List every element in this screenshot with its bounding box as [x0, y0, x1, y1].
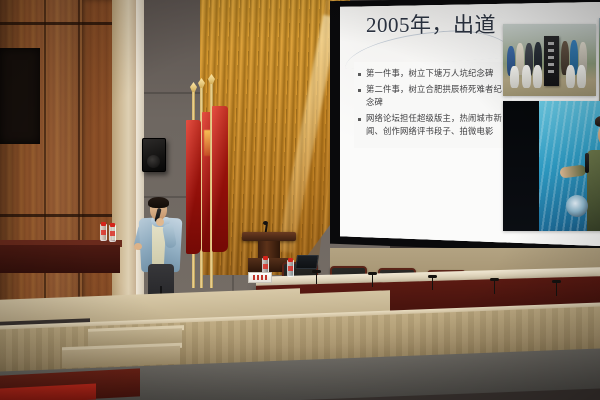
wood-seam: [0, 214, 116, 217]
lectern-top: [242, 232, 296, 241]
table-microphone: [316, 272, 317, 284]
projection-screen: 2005年，出道 第一件事，树立下塘万人坑纪念碑 第二件事，树立合肥拱辰桥死难者…: [340, 2, 600, 246]
table-microphone: [556, 282, 557, 296]
presentation-slide: 2005年，出道 第一件事，树立下塘万人坑纪念碑 第二件事，树立合肥拱辰桥死难者…: [340, 2, 600, 246]
laptop: [295, 255, 319, 269]
slide-photo-performer: [503, 101, 600, 231]
table-microphone-head: [312, 270, 321, 273]
slide-title: 2005年，出道: [366, 9, 496, 39]
side-table: [0, 245, 120, 273]
wood-seam: [0, 22, 116, 25]
dark-wall-inset: [0, 48, 40, 144]
stage-light-icon: [566, 195, 588, 217]
bullet-dot-icon: [358, 118, 361, 121]
list-item: 第二件事，树立合肥拱辰桥死难者纪念碑: [358, 83, 508, 109]
dark-edge: [503, 101, 539, 231]
table-microphone: [494, 280, 495, 294]
performer-fur-hat: [595, 115, 600, 127]
speaker-hair: [148, 197, 169, 208]
name-card: [248, 272, 272, 283]
bullet-dot-icon: [358, 89, 361, 92]
table-microphone-head: [428, 275, 437, 278]
performer-microphone: [585, 153, 589, 173]
auditorium-photo: 2005年，出道 第一件事，树立下塘万人坑纪念碑 第二件事，树立合肥拱辰桥死难者…: [0, 0, 600, 400]
red-flag: [186, 120, 201, 254]
speaker-hand-left: [134, 243, 142, 250]
slide-bullet-list: 第一件事，树立下塘万人坑纪念碑 第二件事，树立合肥拱辰桥死难者纪念碑 网络论坛担…: [354, 62, 512, 148]
slide-photo-group-memorial: [503, 24, 596, 96]
table-microphone-head: [368, 272, 377, 275]
list-item: 第一件事，树立下塘万人坑纪念碑: [358, 67, 508, 80]
memorial-stele: [544, 36, 559, 86]
loudspeaker-icon: [142, 138, 166, 172]
water-bottle: [109, 225, 116, 242]
table-microphone: [432, 277, 433, 290]
bullet-text: 网络论坛担任超级版主，热闹城市新闻、创作网络评书段子、拍微电影: [366, 112, 508, 138]
list-item: 网络论坛担任超级版主，热闹城市新闻、创作网络评书段子、拍微电影: [358, 112, 508, 138]
bullet-dot-icon: [358, 73, 361, 76]
table-microphone-head: [490, 278, 499, 281]
table-microphone-head: [552, 280, 561, 283]
bullet-text: 第二件事，树立合肥拱辰桥死难者纪念碑: [366, 83, 508, 109]
speaker-hand-right: [156, 218, 164, 226]
lectern-mic-head: [263, 221, 268, 225]
bullet-text: 第一件事，树立下塘万人坑纪念碑: [366, 67, 493, 80]
water-bottle: [100, 224, 107, 241]
table-microphone: [372, 274, 373, 287]
red-flag: [212, 106, 228, 252]
water-bottle: [287, 260, 294, 277]
